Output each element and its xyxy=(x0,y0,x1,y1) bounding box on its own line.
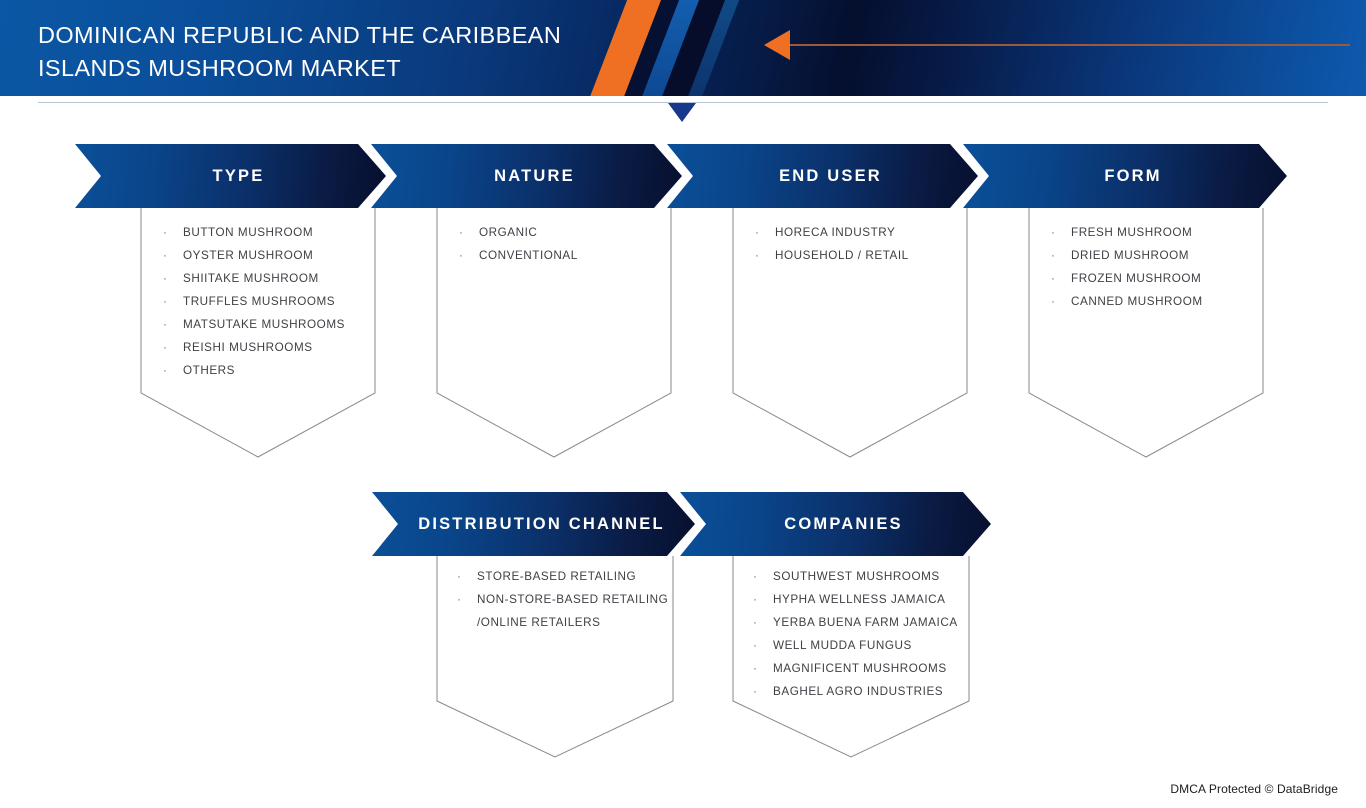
bullet-icon: · xyxy=(163,359,167,382)
list-item: ·YERBA BUENA FARM JAMAICA xyxy=(750,611,980,634)
segment-title: NATURE xyxy=(478,167,575,186)
list-item-label: HOUSEHOLD / RETAIL xyxy=(775,249,909,262)
segment-list-type: ·BUTTON MUSHROOM ·OYSTER MUSHROOM ·SHIIT… xyxy=(160,221,375,382)
list-item: ·FRESH MUSHROOM xyxy=(1048,221,1268,244)
page-title: DOMINICAN REPUBLIC AND THE CARIBBEAN ISL… xyxy=(38,19,598,85)
list-item: ·SOUTHWEST MUSHROOMS xyxy=(750,565,980,588)
segment-title: DISTRIBUTION CHANNEL xyxy=(402,515,665,534)
list-item: ·HORECA INDUSTRY xyxy=(752,221,967,244)
list-item-label: DRIED MUSHROOM xyxy=(1071,249,1189,262)
left-arrow-icon xyxy=(764,30,790,60)
list-item: ·STORE-BASED RETAILING xyxy=(454,565,679,588)
list-item-label: SOUTHWEST MUSHROOMS xyxy=(773,570,940,583)
list-item: ·WELL MUDDA FUNGUS xyxy=(750,634,980,657)
bullet-icon: · xyxy=(459,221,463,244)
bullet-icon: · xyxy=(163,244,167,267)
bullet-icon: · xyxy=(1051,244,1055,267)
segment-banner-companies[interactable]: COMPANIES xyxy=(680,492,991,556)
bullet-icon: · xyxy=(755,244,759,267)
list-item: ·BUTTON MUSHROOM xyxy=(160,221,375,244)
list-item: ·FROZEN MUSHROOM xyxy=(1048,267,1268,290)
segment-title: FORM xyxy=(1088,167,1161,186)
list-item: ·REISHI MUSHROOMS xyxy=(160,336,375,359)
segment-banner-end-user[interactable]: END USER xyxy=(667,144,978,208)
bullet-icon: · xyxy=(1051,290,1055,313)
list-item-label: HORECA INDUSTRY xyxy=(775,226,895,239)
page-header: DOMINICAN REPUBLIC AND THE CARIBBEAN ISL… xyxy=(0,0,1366,96)
bullet-icon: · xyxy=(163,221,167,244)
list-item-label: OYSTER MUSHROOM xyxy=(183,249,313,262)
bullet-icon: · xyxy=(1051,221,1055,244)
list-item: ·HYPHA WELLNESS JAMAICA xyxy=(750,588,980,611)
segment-title: TYPE xyxy=(197,167,265,186)
segment-title: END USER xyxy=(763,167,882,186)
bullet-icon: · xyxy=(163,313,167,336)
bullet-icon: · xyxy=(163,290,167,313)
bullet-icon: · xyxy=(755,221,759,244)
segment-banner-type[interactable]: TYPE xyxy=(75,144,386,208)
footer-credit: DMCA Protected © DataBridge xyxy=(1170,782,1338,796)
bullet-icon: · xyxy=(459,244,463,267)
segment-banner-form[interactable]: FORM xyxy=(963,144,1287,208)
list-item: ·OYSTER MUSHROOM xyxy=(160,244,375,267)
list-item-label: FROZEN MUSHROOM xyxy=(1071,272,1201,285)
list-item-label: CONVENTIONAL xyxy=(479,249,578,262)
segment-title: COMPANIES xyxy=(768,515,903,534)
list-item-label: FRESH MUSHROOM xyxy=(1071,226,1192,239)
bullet-icon: · xyxy=(753,588,757,611)
list-item: ·NON-STORE-BASED RETAILING /ONLINE RETAI… xyxy=(454,588,679,634)
list-item-label: WELL MUDDA FUNGUS xyxy=(773,639,912,652)
list-item-label: YERBA BUENA FARM JAMAICA xyxy=(773,616,958,629)
list-item: ·SHIITAKE MUSHROOM xyxy=(160,267,375,290)
bullet-icon: · xyxy=(753,680,757,703)
bullet-icon: · xyxy=(163,336,167,359)
list-item: ·MATSUTAKE MUSHROOMS xyxy=(160,313,375,336)
list-item-label: SHIITAKE MUSHROOM xyxy=(183,272,319,285)
list-item-label: MAGNIFICENT MUSHROOMS xyxy=(773,662,947,675)
segment-list-nature: ·ORGANIC ·CONVENTIONAL xyxy=(456,221,671,267)
segment-list-companies: ·SOUTHWEST MUSHROOMS ·HYPHA WELLNESS JAM… xyxy=(750,565,980,703)
list-item-label: STORE-BASED RETAILING xyxy=(477,570,636,583)
list-item-label: BUTTON MUSHROOM xyxy=(183,226,313,239)
bullet-icon: · xyxy=(753,565,757,588)
list-item-label: NON-STORE-BASED RETAILING /ONLINE RETAIL… xyxy=(477,593,668,629)
list-item-label: HYPHA WELLNESS JAMAICA xyxy=(773,593,946,606)
bullet-icon: · xyxy=(753,634,757,657)
segment-banner-nature[interactable]: NATURE xyxy=(371,144,682,208)
list-item-label: TRUFFLES MUSHROOMS xyxy=(183,295,335,308)
segment-list-distribution-channel: ·STORE-BASED RETAILING ·NON-STORE-BASED … xyxy=(454,565,679,634)
list-item-label: OTHERS xyxy=(183,364,235,377)
segment-list-end-user: ·HORECA INDUSTRY ·HOUSEHOLD / RETAIL xyxy=(752,221,967,267)
list-item: ·DRIED MUSHROOM xyxy=(1048,244,1268,267)
list-item-label: ORGANIC xyxy=(479,226,537,239)
list-item-label: BAGHEL AGRO INDUSTRIES xyxy=(773,685,943,698)
bullet-icon: · xyxy=(1051,267,1055,290)
list-item: ·CONVENTIONAL xyxy=(456,244,671,267)
segment-list-form: ·FRESH MUSHROOM ·DRIED MUSHROOM ·FROZEN … xyxy=(1048,221,1268,313)
bullet-icon: · xyxy=(753,611,757,634)
list-item: ·BAGHEL AGRO INDUSTRIES xyxy=(750,680,980,703)
list-item: ·HOUSEHOLD / RETAIL xyxy=(752,244,967,267)
list-item: ·CANNED MUSHROOM xyxy=(1048,290,1268,313)
bullet-icon: · xyxy=(163,267,167,290)
list-item: ·MAGNIFICENT MUSHROOMS xyxy=(750,657,980,680)
list-item-label: MATSUTAKE MUSHROOMS xyxy=(183,318,345,331)
list-item: ·OTHERS xyxy=(160,359,375,382)
segment-banner-distribution-channel[interactable]: DISTRIBUTION CHANNEL xyxy=(372,492,695,556)
chevron-down-icon xyxy=(668,103,696,122)
bullet-icon: · xyxy=(457,565,461,588)
list-item-label: CANNED MUSHROOM xyxy=(1071,295,1203,308)
header-arrow-line xyxy=(790,44,1350,46)
list-item: ·ORGANIC xyxy=(456,221,671,244)
bullet-icon: · xyxy=(457,588,461,611)
list-item-label: REISHI MUSHROOMS xyxy=(183,341,313,354)
bullet-icon: · xyxy=(753,657,757,680)
list-item: ·TRUFFLES MUSHROOMS xyxy=(160,290,375,313)
